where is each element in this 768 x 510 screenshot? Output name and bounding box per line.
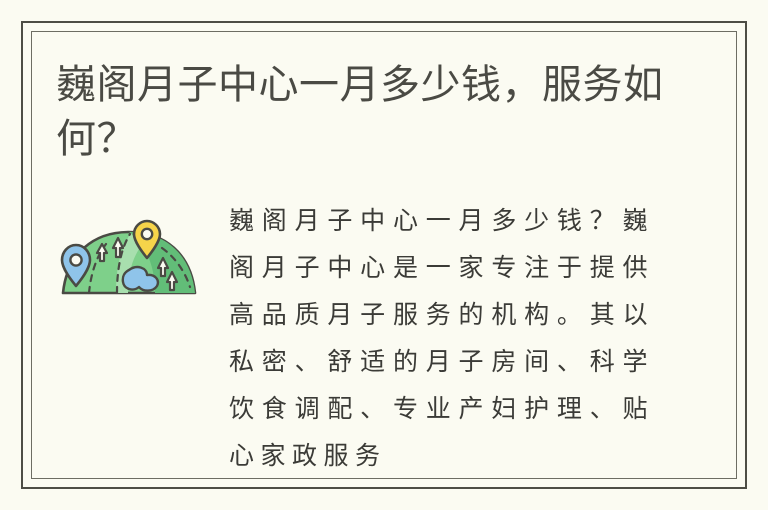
page-title: 巍阁月子中心一月多少钱，服务如何？ bbox=[56, 58, 696, 166]
article-card: 巍阁月子中心一月多少钱，服务如何？ bbox=[21, 21, 747, 489]
article-body-text: 巍阁月子中心一月多少钱？巍阁月子中心是一家专注于提供高品质月子服务的机构。其以私… bbox=[229, 197, 654, 479]
article-card-inner-border: 巍阁月子中心一月多少钱，服务如何？ bbox=[31, 31, 737, 479]
map-hill-with-location-pins-icon bbox=[59, 214, 199, 298]
article-content-row: 巍阁月子中心一月多少钱？巍阁月子中心是一家专注于提供高品质月子服务的机构。其以私… bbox=[32, 197, 736, 457]
